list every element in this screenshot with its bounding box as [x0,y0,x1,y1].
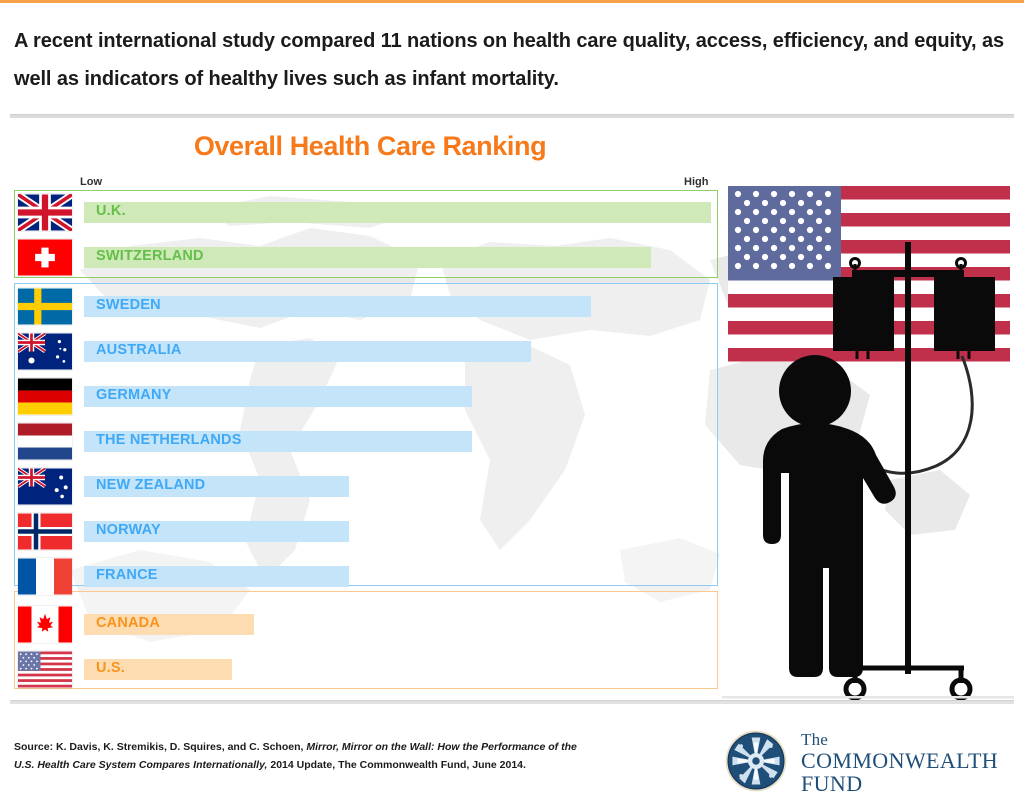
country-label: U.K. [96,203,126,219]
country-label: FRANCE [96,567,158,583]
country-label: SWEDEN [96,297,161,313]
source-line2-plain: 2014 Update, The Commonwealth Fund, June… [267,759,525,771]
scale-label-high: High [684,176,708,188]
top-accent-rule [0,0,1024,3]
illustration-patient-with-iv [722,186,1014,700]
table-row[interactable]: FRANCE [14,554,718,599]
ranking-rows: U.K. SWITZERLAND SWEDEN [14,190,718,690]
source-citation: Source: K. Davis, K. Stremikis, D. Squir… [14,738,674,774]
iv-bag-left [833,277,894,351]
flag-france-icon [18,558,72,595]
flag-australia-icon [18,333,72,370]
chart-title: Overall Health Care Ranking [0,131,740,162]
divider-bottom [10,700,1014,704]
commonwealth-fund-logo[interactable]: The COMMONWEALTH FUND [725,730,1015,796]
divider-top [10,114,1014,118]
table-row[interactable]: SWEDEN [14,284,718,329]
flag-uk-icon [18,194,72,231]
flag-sweden-icon [18,288,72,325]
table-row[interactable]: NEW ZEALAND [14,464,718,509]
country-label: CANADA [96,615,160,631]
country-label: NEW ZEALAND [96,477,205,493]
country-label: NORWAY [96,522,161,538]
source-line1-italic: Mirror, Mirror on the Wall: How the Perf… [306,741,577,753]
commonwealth-seal-icon [725,730,787,792]
flag-canada-icon [18,606,72,643]
table-row[interactable]: THE NETHERLANDS [14,419,718,464]
patient-silhouette [763,355,896,677]
flag-newzealand-icon [18,468,72,505]
commonwealth-wordmark: The COMMONWEALTH FUND [801,731,998,795]
table-row[interactable]: CANADA [14,602,718,647]
bar [84,202,711,223]
logo-fund: FUND [801,772,998,795]
table-row[interactable]: U.S. [14,647,718,692]
country-label: AUSTRALIA [96,342,182,358]
table-row[interactable]: NORWAY [14,509,718,554]
logo-commonwealth: COMMONWEALTH [801,749,998,772]
infographic-page: A recent international study compared 11… [0,0,1024,811]
source-line1-plain: Source: K. Davis, K. Stremikis, D. Squir… [14,741,306,753]
table-row[interactable]: AUSTRALIA [14,329,718,374]
iv-bag-right [934,277,995,351]
flag-switzerland-icon [18,239,72,276]
table-row[interactable]: SWITZERLAND [14,235,718,280]
country-label: GERMANY [96,387,172,403]
source-line2-italic: U.S. Health Care System Compares Interna… [14,759,267,771]
flag-netherlands-icon [18,423,72,460]
intro-paragraph: A recent international study compared 11… [14,22,1004,98]
flag-usa-icon [18,651,72,688]
logo-the: The [801,731,998,749]
flag-norway-icon [18,513,72,550]
country-label: THE NETHERLANDS [96,432,242,448]
table-row[interactable]: U.K. [14,190,718,235]
scale-label-low: Low [80,176,102,188]
iv-tubing [868,356,972,473]
country-label: U.S. [96,660,125,676]
flag-germany-icon [18,378,72,415]
country-label: SWITZERLAND [96,248,204,264]
table-row[interactable]: GERMANY [14,374,718,419]
